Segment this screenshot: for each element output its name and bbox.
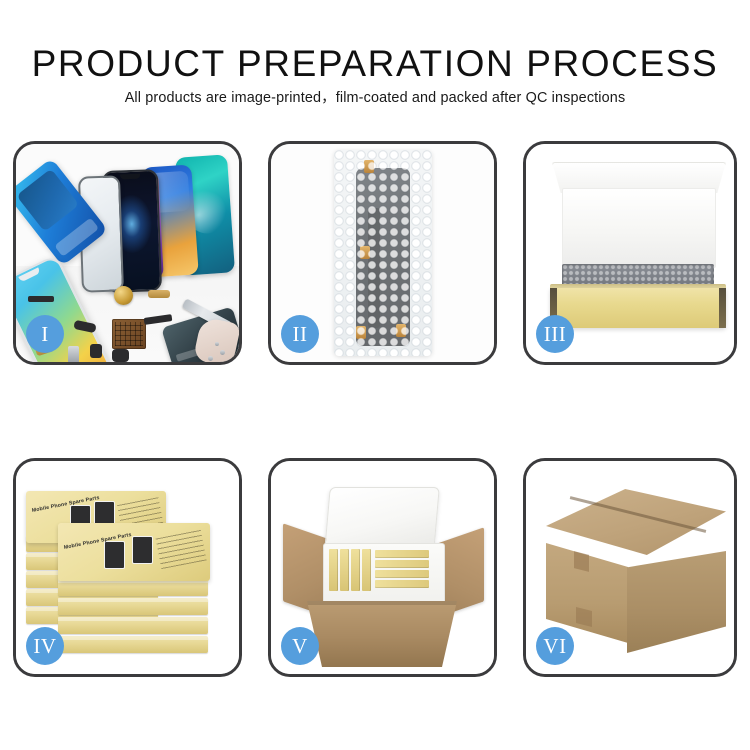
part-gold-flex-icon (148, 290, 170, 298)
process-step-grid: I II (0, 0, 750, 750)
yellow-box-edge-item (351, 549, 360, 591)
tape-tab-icon (364, 160, 374, 173)
process-step-card-4[interactable]: Mobile Phone Spare Parts Mobile Phone Sp… (13, 458, 242, 677)
tape-tab-icon (396, 324, 406, 337)
part-camera-icon (90, 344, 102, 358)
box-screen-image-icon (132, 536, 153, 564)
step-badge-4: IV (26, 627, 64, 665)
process-step-card-1[interactable]: I (13, 141, 242, 365)
yellow-box-edge-item (340, 549, 349, 591)
step-badge-2: II (281, 315, 319, 353)
product-preparation-process-page: PRODUCT PREPARATION PROCESS All products… (0, 0, 750, 750)
stacked-box-item (58, 598, 208, 615)
yellow-box-edge-item (329, 549, 338, 591)
stacked-box-item (58, 579, 208, 596)
coin-cell-icon (114, 286, 133, 305)
process-step-card-3[interactable]: III (523, 141, 737, 365)
step-badge-1: I (26, 315, 64, 353)
white-foam-sheet-icon (562, 188, 716, 268)
carton-front-icon (307, 601, 457, 667)
yellow-box-edge-item (362, 549, 371, 591)
part-speaker-icon (112, 349, 129, 362)
carton-tape-upper-icon (574, 551, 589, 572)
process-step-card-5[interactable]: V (268, 458, 497, 677)
yellow-box-front-icon (550, 288, 726, 328)
bubble-wrap-bag-icon (334, 150, 432, 356)
process-step-card-6[interactable]: VI (523, 458, 737, 677)
screw-icon (215, 342, 219, 346)
box-spec-text-lines (155, 529, 206, 569)
screw-icon (208, 356, 213, 361)
yellow-box-face-item (375, 570, 429, 578)
stacked-box-item (58, 617, 208, 634)
stacked-box-top-front: Mobile Phone Spare Parts (58, 523, 210, 581)
foam-lid-icon (324, 487, 440, 551)
yellow-box-face-item (375, 550, 429, 558)
yellow-box-face-item (375, 580, 429, 588)
step-badge-6: VI (536, 627, 574, 665)
box-screen-image-icon (104, 541, 125, 569)
tape-tab-icon (356, 326, 366, 339)
step-badge-3: III (536, 315, 574, 353)
tape-tab-icon (360, 246, 370, 259)
part-sim-tray-icon (68, 346, 79, 362)
logic-board-icon (112, 319, 146, 349)
step-badge-5: V (281, 627, 319, 665)
part-strip-icon (28, 296, 54, 302)
screw-icon (220, 350, 225, 355)
stacked-box-item (58, 636, 208, 653)
carton-contents-icon (329, 549, 437, 593)
process-step-card-2[interactable]: II (268, 141, 497, 365)
yellow-box-face-item (375, 560, 429, 568)
